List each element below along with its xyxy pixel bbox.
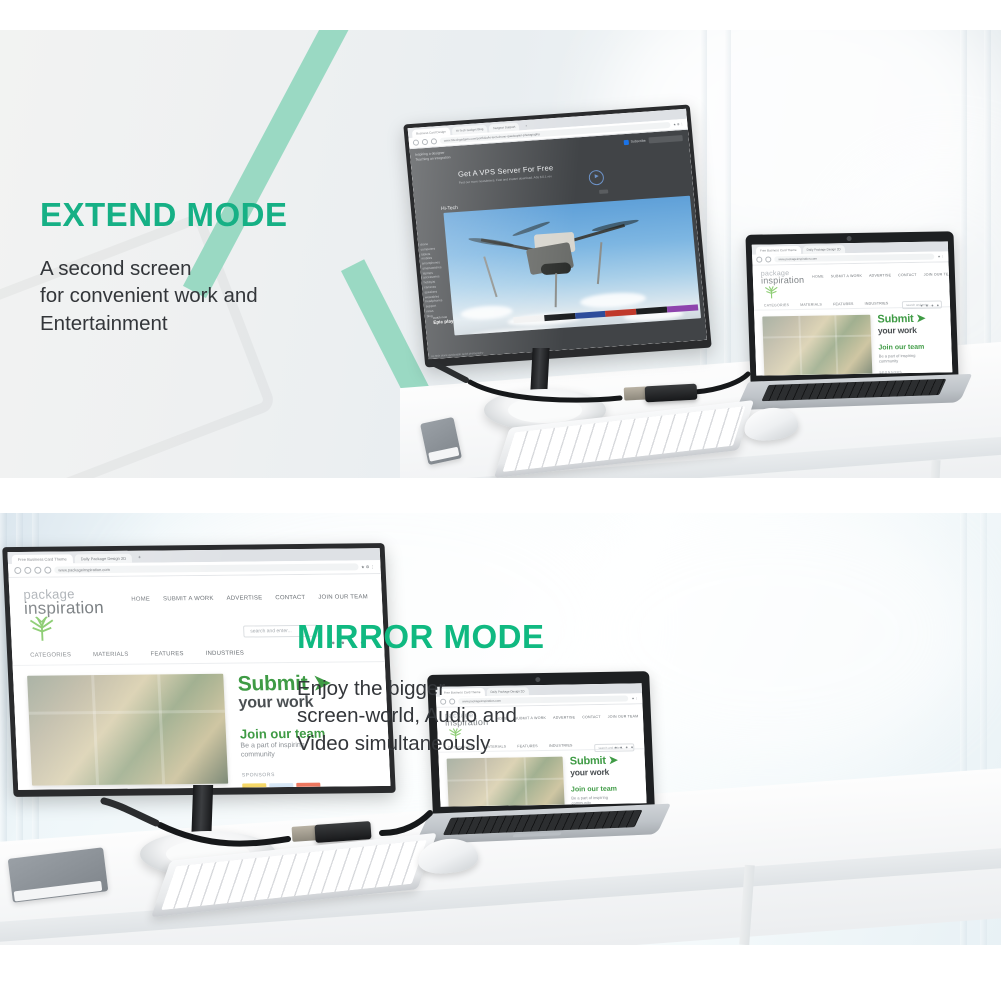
join-team-cta[interactable]: Join our team Be a part of inspiringcomm… — [571, 785, 639, 805]
sidebar-cta-area: Submit ➤ your work Join our team Be a pa… — [877, 313, 945, 375]
subscribe-area[interactable]: Subscribe — [623, 135, 682, 145]
join-team-cta[interactable]: Join our team Be a part of inspiringcomm… — [878, 343, 944, 363]
site-logo[interactable]: package inspiration — [23, 587, 119, 643]
browser-window-package-laptop[interactable]: Free Business Card Theme Daily Package D… — [752, 241, 953, 375]
sponsors-label: SPONSORS — [879, 369, 944, 374]
extend-mode-text: EXTEND MODE A second screen for convenie… — [40, 198, 340, 337]
browser-window-hitech[interactable]: Business Card Design Hi-Tech Gadget Blog… — [408, 109, 707, 360]
back-icon[interactable] — [14, 567, 21, 574]
sidebar-cta[interactable]: watch now Epic play — [433, 314, 454, 324]
social-icons[interactable]: ●●●● — [614, 744, 636, 749]
usb-c-hdmi-adapter — [645, 384, 698, 403]
subnav-item[interactable]: CATEGORIES — [30, 652, 71, 658]
subnav-item[interactable]: INDUSTRIES — [206, 651, 245, 657]
laptop-keyboard[interactable] — [761, 379, 946, 401]
subnav-item[interactable]: FEATURES — [150, 651, 183, 657]
nav-item[interactable]: SUBMIT A WORK — [831, 274, 862, 279]
subnav-item[interactable]: MATERIALS — [800, 303, 822, 307]
extend-body: A second screen for convenient work and … — [40, 255, 340, 337]
sponsor-image[interactable] — [242, 783, 268, 790]
drone-leg — [597, 242, 603, 284]
drone-rotor — [591, 218, 639, 233]
sponsor-image[interactable] — [269, 782, 295, 789]
url-input[interactable]: www.packageinspiration.com — [774, 254, 935, 263]
page-viewport: package inspiration HOME SUBMIT A WORK A… — [752, 262, 952, 375]
browser-actions[interactable]: ★ ⋮ — [938, 254, 945, 258]
browser-actions[interactable]: ★ ⚙ ⋮ — [673, 122, 683, 127]
laptop-lid: Free Business Card Theme Daily Package D… — [745, 231, 958, 383]
page-viewport: Inspiring a designer Teaching an integra… — [410, 130, 708, 360]
drone-hero-image — [443, 196, 701, 336]
article-hero-image[interactable] — [762, 315, 872, 376]
back-icon[interactable] — [413, 139, 420, 145]
promo-banner[interactable]: Get A VPS Server For Free Find out more … — [458, 162, 577, 185]
article-hero-image[interactable] — [447, 757, 566, 807]
package-inspiration-website: package inspiration HOME SUBMIT A WORK A… — [752, 262, 952, 375]
drone-leg — [483, 256, 497, 297]
site-header: package inspiration HOME SUBMIT A WORK A… — [752, 262, 949, 301]
forward-icon[interactable] — [422, 139, 429, 145]
sponsor-images[interactable] — [242, 782, 378, 790]
product-feature-page: Business Card Design Hi-Tech Gadget Blog… — [0, 0, 1001, 1001]
sponsors-label: SPONSORS — [242, 771, 376, 778]
sidebar-cta-area: Submit ➤ your work Join our team Be a pa… — [570, 755, 640, 806]
laptop-trackpad[interactable] — [512, 832, 561, 837]
browser-actions[interactable]: ★ ⋮ — [632, 696, 639, 700]
image-caption: Hi-Tech drone quadcopter aerial photogra… — [431, 351, 483, 358]
subnav-item[interactable]: INDUSTRIES — [865, 301, 889, 305]
site-logo[interactable]: package inspiration — [761, 270, 805, 300]
nav-item[interactable]: CONTACT — [898, 273, 917, 277]
promo-badge — [599, 189, 608, 194]
new-tab-button[interactable]: + — [134, 553, 145, 563]
arrow-icon: ➤ — [916, 313, 925, 325]
extend-headline: EXTEND MODE — [40, 198, 340, 231]
mirror-body: Enjoy the bigger screen-world, Audio and… — [297, 675, 587, 757]
article-hero-image[interactable] — [27, 674, 228, 786]
forward-icon[interactable] — [24, 567, 31, 574]
nav-item[interactable]: JOIN OUR TEAM — [318, 594, 368, 601]
social-icons[interactable]: ●●●● — [920, 302, 942, 307]
nav-item[interactable]: HOME — [131, 597, 150, 603]
drone-rotor — [468, 236, 514, 247]
main-nav[interactable]: HOME SUBMIT A WORK ADVERTISE CONTACT JOI… — [131, 584, 368, 602]
reload-icon[interactable] — [431, 138, 438, 144]
nav-item[interactable]: CONTACT — [275, 595, 305, 601]
main-nav[interactable]: HOME SUBMIT A WORK ADVERTISE CONTACT JOI… — [812, 267, 952, 278]
nav-item[interactable]: JOIN OUR TEAM — [924, 272, 953, 277]
submit-work-cta[interactable]: Submit ➤ your work — [877, 313, 943, 335]
section-title: Hi-Tech — [441, 205, 458, 212]
monitor-bezel: Business Card Design Hi-Tech Gadget Blog… — [403, 104, 711, 367]
hitech-website: Inspiring a designer Teaching an integra… — [410, 130, 708, 360]
content-area: Submit ➤ your work Join our team Be a pa… — [438, 749, 646, 807]
home-icon[interactable] — [44, 567, 51, 574]
laptop-screen[interactable]: Free Business Card Theme Daily Package D… — [752, 241, 953, 375]
leaf-icon — [763, 285, 779, 299]
search-box[interactable] — [648, 135, 682, 143]
webcam-icon — [847, 236, 852, 241]
drone-leg — [555, 273, 557, 307]
nav-item[interactable]: JOIN OUR TEAM — [608, 714, 639, 719]
subnav-item[interactable]: MATERIALS — [93, 652, 129, 658]
subnav-item[interactable]: FEATURES — [833, 302, 854, 306]
subscribe-button[interactable]: Subscribe — [623, 138, 645, 145]
reload-icon[interactable] — [34, 567, 41, 574]
laptop-keyboard[interactable] — [443, 810, 643, 835]
browser-actions[interactable]: ★ ⚙ ⋮ — [361, 564, 375, 569]
mirror-mode-text: MIRROR MODE Enjoy the bigger screen-worl… — [297, 620, 587, 757]
play-button-icon[interactable] — [588, 170, 604, 186]
nav-item[interactable]: HOME — [812, 274, 824, 278]
forward-icon[interactable] — [765, 256, 771, 262]
site-brand: Inspiring a designer Teaching an integra… — [415, 150, 451, 162]
subscribe-icon — [623, 139, 628, 144]
extend-mode-panel: Business Card Design Hi-Tech Gadget Blog… — [0, 30, 1001, 478]
content-area: Submit ➤ your work Join our team Be a pa… — [754, 307, 952, 375]
nav-item[interactable]: ADVERTISE — [227, 595, 263, 601]
subnav-item[interactable]: CATEGORIES — [764, 303, 789, 307]
url-input[interactable]: www.packageinspiration.com — [54, 563, 358, 573]
back-icon[interactable] — [756, 257, 762, 263]
mirror-mode-panel: Free Business Card Theme Daily Package D… — [0, 513, 1001, 945]
leaf-icon — [26, 617, 57, 643]
sponsor-image[interactable] — [296, 782, 322, 790]
nav-item[interactable]: SUBMIT A WORK — [163, 596, 214, 603]
mirror-headline: MIRROR MODE — [297, 620, 587, 653]
nav-item[interactable]: ADVERTISE — [869, 273, 891, 277]
arrow-icon: ➤ — [608, 755, 618, 767]
submit-work-cta[interactable]: Submit ➤ your work — [570, 755, 638, 777]
monitor-screen[interactable]: Business Card Design Hi-Tech Gadget Blog… — [408, 109, 707, 360]
category-sidebar[interactable]: drone computers tablets mobiles smartpho… — [420, 241, 446, 319]
